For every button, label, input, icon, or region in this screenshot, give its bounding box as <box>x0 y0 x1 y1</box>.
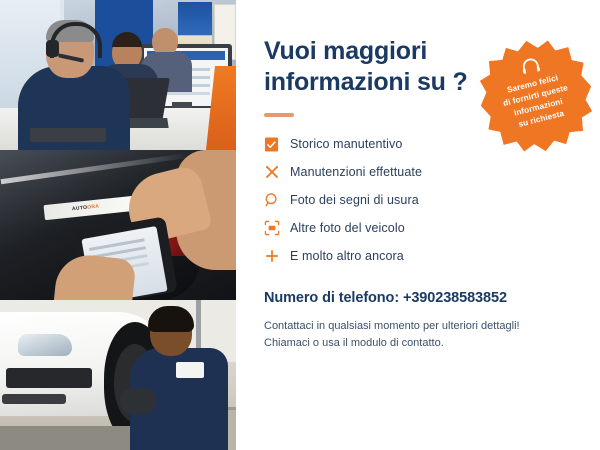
car-lift-platform <box>0 426 130 450</box>
title-underline-rule <box>264 113 294 117</box>
page-title-line-2: informazioni su ? <box>264 67 484 98</box>
phone-number-line[interactable]: Numero di telefono: +390238583852 <box>264 290 554 306</box>
content-panel: Vuoi maggiori informazioni su ? Storico … <box>236 0 600 450</box>
feature-item-altre-foto-del-veicolo: Altre foto del veicolo <box>264 214 514 242</box>
lower-grille <box>2 394 66 404</box>
feature-item-storico-manutentivo: Storico manutentivo <box>264 130 514 158</box>
mechanic-hair <box>148 306 194 332</box>
photo-column: AUTOORA <box>0 0 236 450</box>
magnifier-icon <box>264 192 290 208</box>
feature-item-foto-dei-segni-di-usura: Foto dei segni di usura <box>264 186 514 214</box>
feature-item-manutenzioni-effettuate: Manutenzioni effettuate <box>264 158 514 186</box>
contact-subtext-line-1: Contattaci in qualsiasi momento per ulte… <box>264 318 554 335</box>
feature-label: Manutenzioni effettuate <box>290 165 422 179</box>
feature-label: Storico manutentivo <box>290 137 402 151</box>
work-glove <box>120 388 156 414</box>
page-title: Vuoi maggiori informazioni su ? <box>264 36 484 97</box>
headset-earcup <box>46 40 59 57</box>
crossed-tools-icon <box>264 164 290 180</box>
feature-label: Foto dei segni di usura <box>290 193 419 207</box>
front-grille <box>6 368 92 388</box>
checkbox-checked-icon <box>264 137 290 152</box>
contact-subtext: Contattaci in qualsiasi momento per ulte… <box>264 318 554 351</box>
photo-vehicle-paint-inspection-with-phone: AUTOORA <box>0 150 236 300</box>
uniform-badge <box>176 362 204 378</box>
keyboard <box>30 128 106 142</box>
feature-label: E molto altro ancora <box>290 249 404 263</box>
feature-label: Altre foto del veicolo <box>290 221 405 235</box>
feature-item-e-molto-altro-ancora: E molto altro ancora <box>264 242 514 270</box>
plus-icon <box>264 248 290 264</box>
promo-starburst-badge: Saremo felici di fornirti queste informa… <box>471 31 600 161</box>
contact-subtext-line-2: Chiamaci o usa il modulo di contatto. <box>264 335 554 352</box>
headlight <box>18 334 72 356</box>
promo-banner: AUTOORA Vuoi <box>0 0 600 450</box>
feature-list: Storico manutentivo Manutenzioni effettu… <box>264 130 514 270</box>
photo-mechanic-inspecting-lifted-car-wheel <box>0 300 236 450</box>
photo-call-centre-agents-with-headsets <box>0 0 236 150</box>
page-title-line-1: Vuoi maggiori <box>264 36 484 67</box>
photo-scan-frame-icon <box>264 220 290 236</box>
